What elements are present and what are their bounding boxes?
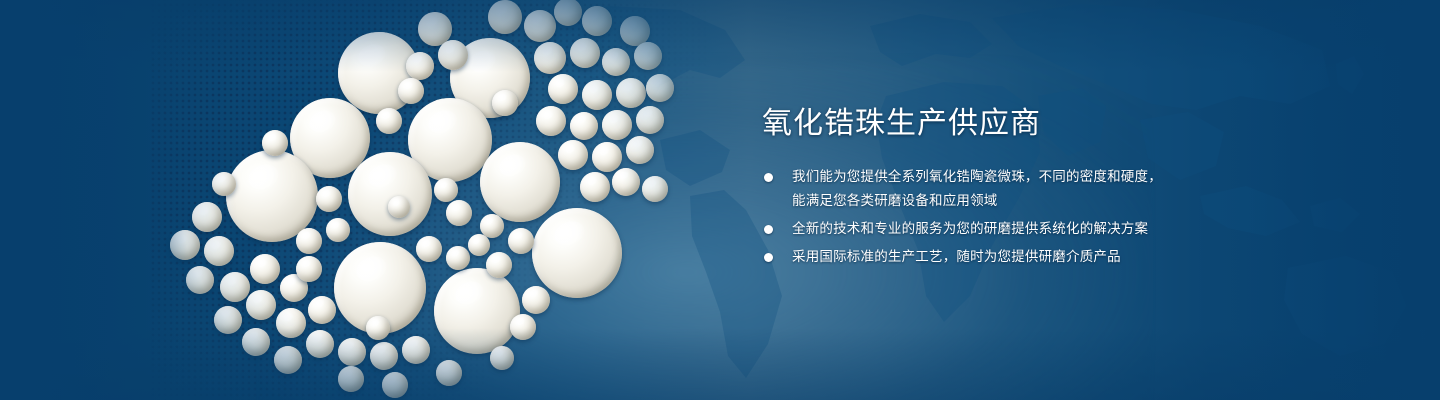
list-item: 全新的技术和专业的服务为您的研磨提供系统化的解决方案 (762, 218, 1402, 240)
feature-list: 我们能为您提供全系列氧化锆陶瓷微珠，不同的密度和硬度， 能满足您各类研磨设备和应… (762, 166, 1402, 268)
bullet-dot-icon (764, 253, 773, 262)
list-item-line: 全新的技术和专业的服务为您的研磨提供系统化的解决方案 (792, 218, 1402, 240)
list-item-line: 能满足您各类研磨设备和应用领域 (792, 190, 1402, 212)
list-item: 采用国际标准的生产工艺，随时为您提供研磨介质产品 (762, 246, 1402, 268)
bullet-dot-icon (764, 173, 773, 182)
bullet-dot-icon (764, 225, 773, 234)
page-title: 氧化锆珠生产供应商 (762, 104, 1402, 144)
list-item-line: 采用国际标准的生产工艺，随时为您提供研磨介质产品 (792, 246, 1402, 268)
list-item: 我们能为您提供全系列氧化锆陶瓷微珠，不同的密度和硬度， 能满足您各类研磨设备和应… (762, 166, 1402, 212)
list-item-line: 我们能为您提供全系列氧化锆陶瓷微珠，不同的密度和硬度， (792, 166, 1402, 188)
hero-banner: 氧化锆珠生产供应商 我们能为您提供全系列氧化锆陶瓷微珠，不同的密度和硬度， 能满… (0, 0, 1440, 400)
banner-copy: 氧化锆珠生产供应商 我们能为您提供全系列氧化锆陶瓷微珠，不同的密度和硬度， 能满… (762, 104, 1402, 268)
